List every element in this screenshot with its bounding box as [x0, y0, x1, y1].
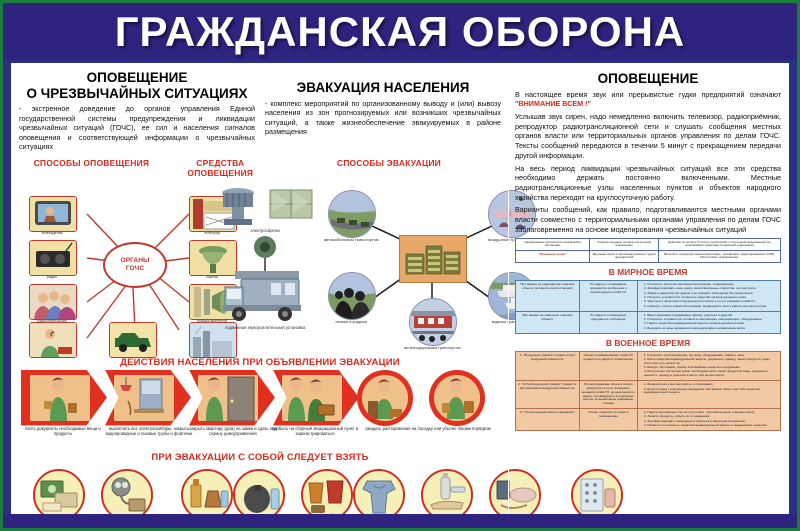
peacetime-row-2: При аварии на химически опасном объекте …: [516, 311, 781, 333]
action-step-1[interactable]: [21, 370, 107, 426]
column-divider: [508, 65, 509, 515]
signal-table: Наименование сигнала или сложившейся обс…: [515, 238, 781, 264]
evac-circle-road[interactable]: [328, 190, 376, 238]
signal-table-header-row: Наименование сигнала или сложившейся обс…: [516, 238, 781, 250]
notification-hub-diagram: телевидение радио радиотрансляция: [17, 180, 214, 355]
war-action-item: 4. Если сигнал застал вас дома, необходи…: [644, 370, 778, 378]
wartime-row-1: 1. "Воздушная тревога" (подаётся при воз…: [516, 351, 781, 381]
evacuation-definition-block: ЭВАКУАЦИЯ НАСЕЛЕНИЯ - комплекс мероприят…: [265, 66, 501, 155]
action-step-1-image: [30, 375, 90, 421]
methods-title: СПОСОБЫ ОПОВЕЩЕНИЯ: [17, 158, 166, 168]
sound-truck-icon: [215, 235, 315, 325]
means-title: СРЕДСТВА ОПОВЕЩЕНИЯ: [166, 158, 275, 178]
action-step-2[interactable]: [105, 370, 191, 426]
page-title: ГРАЖДАНСКАЯ ОБОРОНА: [115, 11, 685, 53]
action-caption-3: закрыть квартиру (дом) на замки и сдать …: [187, 426, 279, 437]
war-action-item: 4. Привести в готовность средства индиви…: [644, 424, 778, 428]
notification-heading: ОПОВЕЩЕНИЕ О ЧРЕЗВЫЧАЙНЫХ СИТУАЦИЯХ: [19, 70, 255, 101]
war-signal-2: 2. "Отбой воздушной тревоги" (подаётся п…: [516, 381, 580, 409]
peace-action-item: 4. Выходить из зоны заражения перпендику…: [644, 327, 778, 331]
diagram-row: телевидение радио радиотрансляция: [11, 180, 509, 355]
evac-circle-foot[interactable]: [328, 272, 376, 320]
take-item-toiletries[interactable]: [421, 469, 473, 521]
war-order-1: Сигнал и наименование штаба ГО подаётся …: [579, 351, 637, 381]
poster-bottom-bar: [3, 514, 797, 528]
signal-order-cell: Звучание сирен и производственных гудков…: [590, 250, 659, 263]
sound-truck-caption: подвижная звукоусилительная установка: [214, 326, 316, 331]
peace-situation-1: При аварии на радиационно-опасном объект…: [516, 281, 580, 312]
action-step-3[interactable]: [189, 370, 275, 426]
electro-siren-icon: [214, 184, 262, 228]
evac-circle-foot-label: пешим порядком: [318, 320, 384, 325]
war-actions-3: 1. Надеть противогазы, при их отсутствии…: [637, 409, 780, 431]
evac-center-building: [399, 235, 467, 283]
hub-tile-radio-label: радио: [21, 275, 83, 279]
evac-circle-rail-label: железнодорожным транспортом: [399, 346, 465, 351]
peace-actions-1: 1. Отключить приточно-вытяжную вентиляци…: [637, 281, 780, 312]
left-column: ОПОВЕЩЕНИЕ О ЧРЕЗВЫЧАЙНЫХ СИТУАЦИЯХ - эк…: [11, 63, 509, 518]
action-step-4-image: [282, 375, 342, 421]
wartime-title: В ВОЕННОЕ ВРЕМЯ: [515, 338, 781, 348]
right-paragraph-2: Услышав звук сирен, надо немедленно вклю…: [515, 112, 781, 161]
action-caption-1: взять документы необходимые вещи и проду…: [17, 426, 109, 437]
action-step-6-image: [434, 375, 480, 421]
peace-order-1: По радио и телевидению передаются сообще…: [579, 281, 637, 312]
evac-methods-title: СПОСОБЫ ЭВАКУАЦИИ: [275, 158, 503, 168]
evacuation-methods-diagram: автомобильным транспортом воздушным тран…: [316, 180, 503, 355]
action-step-4[interactable]: [273, 370, 359, 426]
action-step-5[interactable]: [357, 370, 413, 426]
war-order-2: По распоряжению объекта сигнал доводится…: [579, 381, 637, 409]
electro-sirens-images: [214, 184, 316, 228]
poster-title-bar: ГРАЖДАНСКАЯ ОБОРОНА: [3, 3, 797, 60]
evacuation-heading: ЭВАКУАЦИЯ НАСЕЛЕНИЯ: [265, 80, 501, 96]
horn-array-icon: [266, 184, 316, 224]
attention-all-phrase: "ВНИМАНИЕ ВСЕМ !": [515, 99, 591, 108]
war-actions-1: 1. Отключить электроэнергию, газ, воду, …: [637, 351, 780, 381]
action-step-6[interactable]: [429, 370, 485, 426]
signal-name-cell: "Внимание всем!": [516, 250, 590, 263]
hub-tile-tv-label: телевидение: [21, 231, 83, 235]
war-signal-3: 3. "Угроза радиоактивного заражения": [516, 409, 580, 431]
signal-action-cell: Включить городскую радиотрансляцию, теле…: [659, 250, 781, 263]
war-order-3: Сигнал подаётся по радио и телевидению: [579, 409, 637, 431]
buildings-icon: [400, 236, 466, 282]
evac-circle-road-label: автомобильным транспортом: [318, 238, 384, 243]
notification-means-column: электросирены: [214, 180, 316, 355]
war-action-item: 2. Быть готовым к повторному нападению п…: [644, 388, 778, 396]
peace-actions-2: 1. Ввод (закрывая) сохраняемые прибор, у…: [637, 311, 780, 333]
right-column: ОПОВЕЩЕНИЕ В настоящее время звук или пр…: [509, 63, 789, 518]
evacuation-definition-text: - комплекс мероприятий по организованном…: [265, 99, 501, 137]
wartime-row-2: 2. "Отбой воздушной тревоги" (подаётся п…: [516, 381, 781, 409]
diagram-headers: СПОСОБЫ ОПОВЕЩЕНИЯ СРЕДСТВА ОПОВЕЩЕНИЯ С…: [11, 155, 509, 180]
action-step-5-image: [362, 375, 408, 421]
war-actions-2: 1. Возвратиться к местам работы и прожив…: [637, 381, 780, 409]
signal-col-action: Действия по сигналу ГО или в соответстви…: [659, 238, 781, 250]
take-item-documents[interactable]: [33, 469, 85, 521]
wartime-table: 1. "Воздушная тревога" (подаётся при воз…: [515, 351, 781, 431]
signal-col-order: Порядок передачи сигнала или речевой инф…: [590, 238, 659, 250]
signal-table-row: "Внимание всем!" Звучание сирен и произв…: [516, 250, 781, 263]
hub-tile-tv[interactable]: [29, 196, 77, 232]
action-caption-2: выключить все электроприборы, закрыть во…: [103, 426, 195, 437]
peacetime-row-1: При аварии на радиационно-опасном объект…: [516, 281, 781, 312]
evac-circle-rail[interactable]: [409, 298, 457, 346]
intro-definitions: ОПОВЕЩЕНИЕ О ЧРЕЗВЫЧАЙНЫХ СИТУАЦИЯХ - эк…: [11, 63, 509, 155]
actions-title: ДЕЙСТВИЯ НАСЕЛЕНИЯ ПРИ ОБЪЯВЛЕНИИ ЭВАКУА…: [11, 357, 509, 368]
action-caption-5: ожидать распоряжения на посадку или убыт…: [365, 426, 491, 431]
notification-definition-text: - экстренное доведение до органов управл…: [19, 104, 255, 152]
right-paragraph-1: В настоящее время звук или прерывистые г…: [515, 90, 781, 109]
hub-tile-radio[interactable]: [29, 240, 77, 276]
hub-center-node: ОРГАНЫ ГОЧС: [103, 242, 167, 288]
peacetime-title: В МИРНОЕ ВРЕМЯ: [515, 267, 781, 277]
right-paragraph-3: На весь период ликвидации чрезвычайных с…: [515, 164, 781, 203]
hub-tile-broadcast[interactable]: [29, 284, 77, 320]
action-step-3-image: [198, 375, 258, 421]
civil-defense-poster: ГРАЖДАНСКАЯ ОБОРОНА ОПОВЕЩЕНИЕ О ЧРЕЗВЫЧ…: [0, 0, 800, 531]
war-signal-1: 1. "Воздушная тревога" (подаётся при воз…: [516, 351, 580, 381]
peace-action-item: 6. Сомкнуть плотно кожистый понтажер, вы…: [644, 305, 778, 309]
hub-tile-telephone[interactable]: [29, 322, 77, 358]
action-caption-4: прибыть на сборный эвакуационный пункт и…: [269, 426, 361, 437]
peacetime-table: При аварии на радиационно-опасном объект…: [515, 280, 781, 334]
action-step-2-image: [114, 375, 174, 421]
hub-tile-vehicle[interactable]: [109, 322, 157, 358]
right-heading: ОПОВЕЩЕНИЕ: [515, 71, 781, 87]
evacuation-actions-strip: взять документы необходимые вещи и проду…: [17, 370, 503, 436]
take-with-title: ПРИ ЭВАКУАЦИИ С СОБОЙ СЛЕДУЕТ ВЗЯТЬ: [11, 452, 509, 463]
wartime-row-3: 3. "Угроза радиоактивного заражения" Сиг…: [516, 409, 781, 431]
right-paragraph-4: Варианты сообщений, как правило, подгота…: [515, 205, 781, 234]
poster-body: ОПОВЕЩЕНИЕ О ЧРЕЗВЫЧАЙНЫХ СИТУАЦИЯХ - эк…: [11, 63, 789, 518]
notification-definition-block: ОПОВЕЩЕНИЕ О ЧРЕЗВЫЧАЙНЫХ СИТУАЦИЯХ - эк…: [19, 66, 255, 155]
peace-order-2: По радио и телевидению передаются сообще…: [579, 311, 637, 333]
electro-sirens-caption: электросирены: [214, 229, 316, 234]
sound-truck-image: [214, 235, 316, 325]
signal-col-name: Наименование сигнала или сложившейся обс…: [516, 238, 590, 250]
take-item-ppe[interactable]: [101, 469, 153, 521]
peace-situation-2: При аварии на химически опасном объекте: [516, 311, 580, 333]
